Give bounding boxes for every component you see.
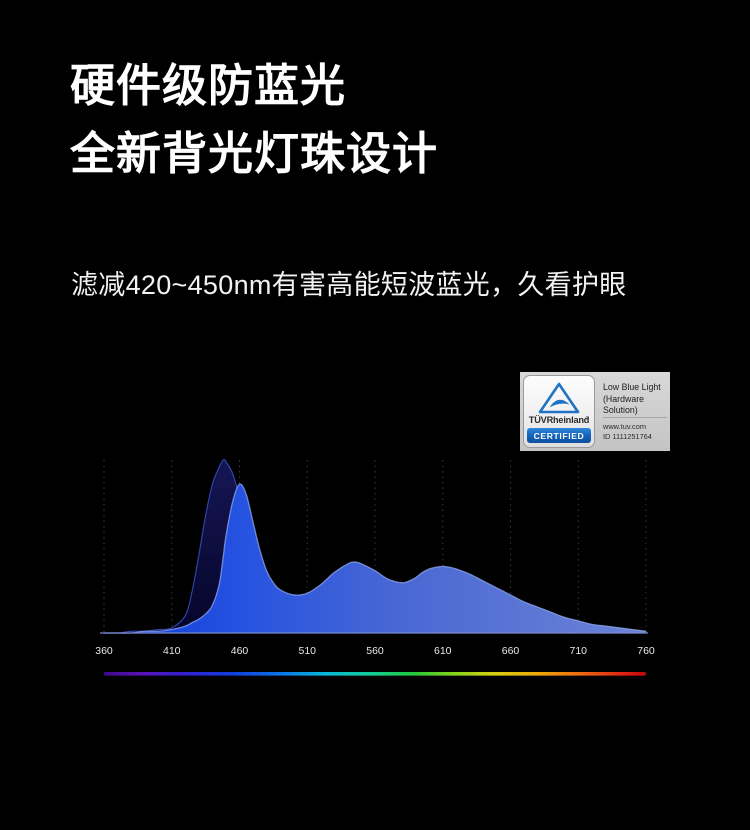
tuv-claim-text: Low Blue Light (Hardware Solution) bbox=[603, 382, 667, 417]
x-tick-label: 510 bbox=[298, 645, 316, 657]
spectrum-chart-svg: 360410460510560610660710760 bbox=[0, 455, 750, 700]
tuv-triangle-icon bbox=[537, 381, 581, 414]
chart-tick-labels: 360410460510560610660710760 bbox=[95, 645, 655, 657]
tuv-website: www.tuv.com bbox=[603, 422, 667, 432]
tuv-claim-line-3: Solution) bbox=[603, 405, 667, 417]
tuv-wordmark: TÜVRheinland bbox=[529, 415, 589, 425]
chart-curves bbox=[104, 460, 646, 634]
page-subtitle: 滤减420~450nm有害高能短波蓝光，久看护眼 bbox=[71, 262, 686, 309]
visible-spectrum-bar bbox=[104, 672, 646, 676]
spectrum-chart: 360410460510560610660710760 bbox=[0, 455, 750, 700]
x-tick-label: 710 bbox=[569, 645, 587, 657]
tuv-claim-line-2: (Hardware bbox=[603, 394, 667, 406]
headline-line-1: 硬件级防蓝光 bbox=[70, 52, 690, 120]
tuv-meta: www.tuv.com ID 1111251764 bbox=[603, 417, 667, 442]
tuv-badge-text: Low Blue Light (Hardware Solution) www.t… bbox=[595, 375, 667, 448]
tuv-certificate-id: ID 1111251764 bbox=[603, 432, 667, 442]
series-area-low-blue-light-backlight-spectrum bbox=[104, 484, 646, 633]
tuv-certification-badge: TÜVRheinland ® CERTIFIED Low Blue Light … bbox=[520, 372, 670, 451]
registered-mark-icon: ® bbox=[585, 416, 589, 422]
tuv-claim-line-1: Low Blue Light bbox=[603, 382, 667, 394]
x-tick-label: 460 bbox=[231, 645, 249, 657]
page-title: 硬件级防蓝光 全新背光灯珠设计 bbox=[70, 52, 690, 188]
x-tick-label: 410 bbox=[163, 645, 181, 657]
x-tick-label: 360 bbox=[95, 645, 113, 657]
headline-line-2: 全新背光灯珠设计 bbox=[70, 120, 690, 188]
x-tick-label: 560 bbox=[366, 645, 384, 657]
certified-bar: CERTIFIED bbox=[527, 428, 591, 443]
x-tick-label: 610 bbox=[434, 645, 452, 657]
x-tick-label: 760 bbox=[637, 645, 655, 657]
x-tick-label: 660 bbox=[502, 645, 520, 657]
tuv-logo-plate: TÜVRheinland ® CERTIFIED bbox=[523, 375, 595, 448]
